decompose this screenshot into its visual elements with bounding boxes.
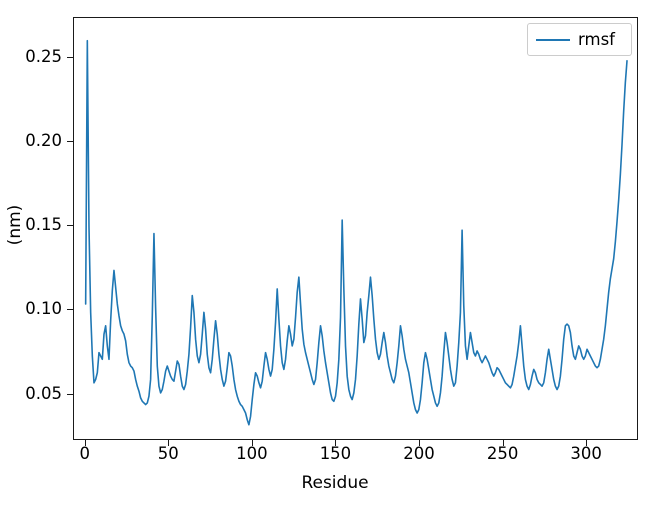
legend-label-rmsf: rmsf [578, 30, 615, 49]
y-tick-label-0.25: 0.25 [25, 49, 62, 66]
y-tick-mark [67, 141, 73, 142]
y-tick-mark [67, 57, 73, 58]
rmsf-line-series [74, 18, 637, 439]
y-tick-label-0.15: 0.15 [25, 217, 62, 234]
chart-figure: (nm) 0.050.100.150.200.25 rmsf Residue 0… [0, 0, 670, 511]
x-tick-mark [586, 440, 587, 446]
y-axis-tick-labels: 0.050.100.150.200.25 [0, 0, 62, 511]
x-tick-label-50: 50 [158, 446, 179, 463]
x-tick-label-0: 0 [79, 446, 90, 463]
legend-line-swatch [536, 39, 570, 41]
x-tick-label-200: 200 [403, 446, 435, 463]
y-tick-mark [67, 394, 73, 395]
x-tick-mark [252, 440, 253, 446]
x-tick-mark [503, 440, 504, 446]
x-axis-label: Residue [0, 473, 670, 493]
y-tick-mark [67, 309, 73, 310]
x-tick-label-250: 250 [487, 446, 519, 463]
x-tick-label-300: 300 [570, 446, 602, 463]
x-tick-mark [85, 440, 86, 446]
y-tick-label-0.10: 0.10 [25, 301, 62, 318]
plot-area [73, 17, 638, 440]
y-tick-label-0.20: 0.20 [25, 133, 62, 150]
x-tick-label-150: 150 [320, 446, 352, 463]
y-tick-label-0.05: 0.05 [25, 386, 62, 403]
x-tick-mark [419, 440, 420, 446]
x-tick-label-100: 100 [236, 446, 268, 463]
x-tick-mark [168, 440, 169, 446]
legend[interactable]: rmsf [527, 23, 632, 56]
x-tick-mark [335, 440, 336, 446]
y-tick-mark [67, 225, 73, 226]
